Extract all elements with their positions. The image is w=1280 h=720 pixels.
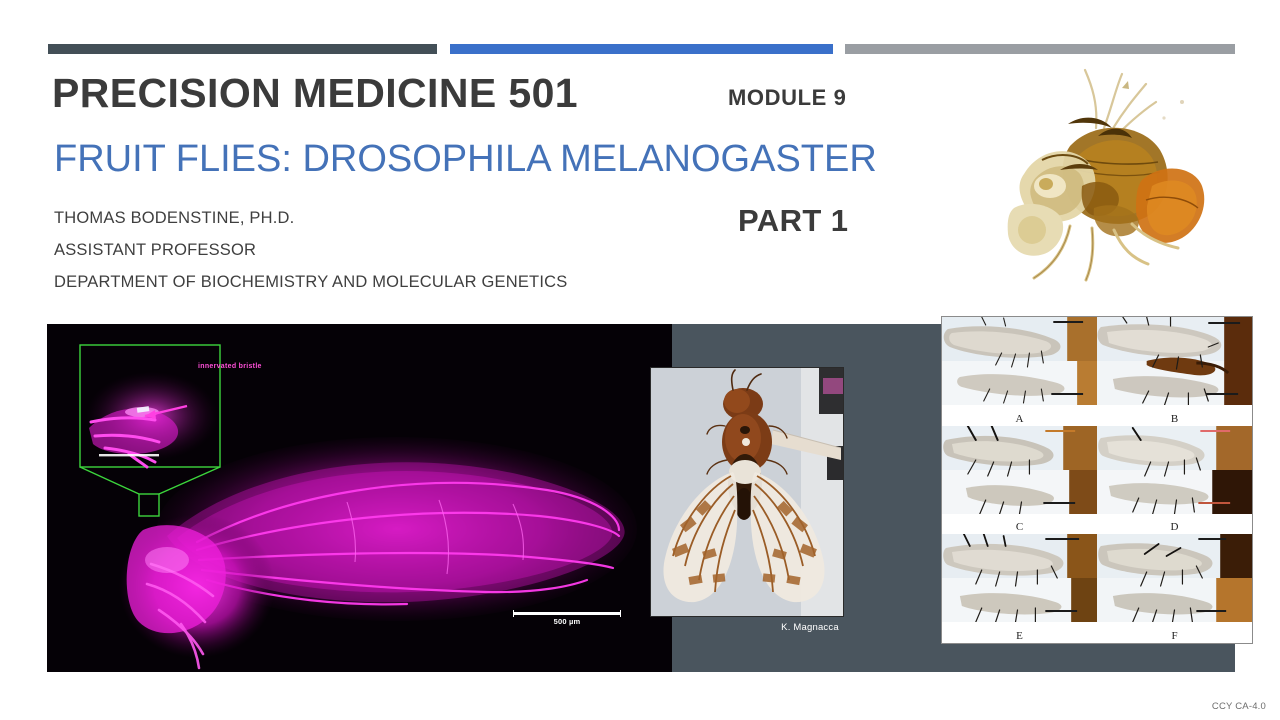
header-rule-bar-blue [450,44,833,54]
panel-letter: F [1097,630,1252,642]
innervated-bristle-annotation: innervated bristle [198,363,262,370]
header-rule-bar-dark [48,44,437,54]
license-credit: CCY CA-4.0 [1212,701,1266,712]
presenter-department: DEPARTMENT OF BIOCHEMISTRY AND MOLECULAR… [54,273,567,292]
leg-panel-a: A [942,317,1097,426]
scale-bar-line [513,612,621,615]
leg-panel-f: F [1097,534,1252,643]
leg-panel-b: B [1097,317,1252,426]
panel-letter: E [942,630,1097,642]
scale-bar: 500 µm [513,612,621,626]
panel-letter: A [942,413,1097,425]
panel-letter: C [942,521,1097,533]
fly-leg-comparison-panels: A [941,316,1253,644]
panel-letter: D [1097,521,1252,533]
part-label: PART 1 [738,203,848,239]
lecture-title: FRUIT FLIES: DROSOPHILA MELANOGASTER [54,138,877,181]
fly-whole-mount-microscopy-image [946,58,1230,301]
leg-panel-c: C [942,426,1097,535]
leg-panel-e: E [942,534,1097,643]
course-title: PRECISION MEDICINE 501 [52,70,578,117]
header-rule-bar-gray [845,44,1235,54]
panel-letter: B [1097,413,1252,425]
presenter-role: ASSISTANT PROFESSOR [54,241,256,260]
scale-bar-label: 500 µm [513,617,621,626]
module-label: MODULE 9 [728,85,846,111]
leg-panel-d: D [1097,426,1252,535]
photo-credit-magnacca: K. Magnacca [730,622,890,633]
lecture-title-slide: PRECISION MEDICINE 501 MODULE 9 FRUIT FL… [0,0,1280,720]
presenter-name: THOMAS BODENSTINE, PH.D. [54,209,294,228]
pinned-fly-specimen-photo [650,367,844,617]
